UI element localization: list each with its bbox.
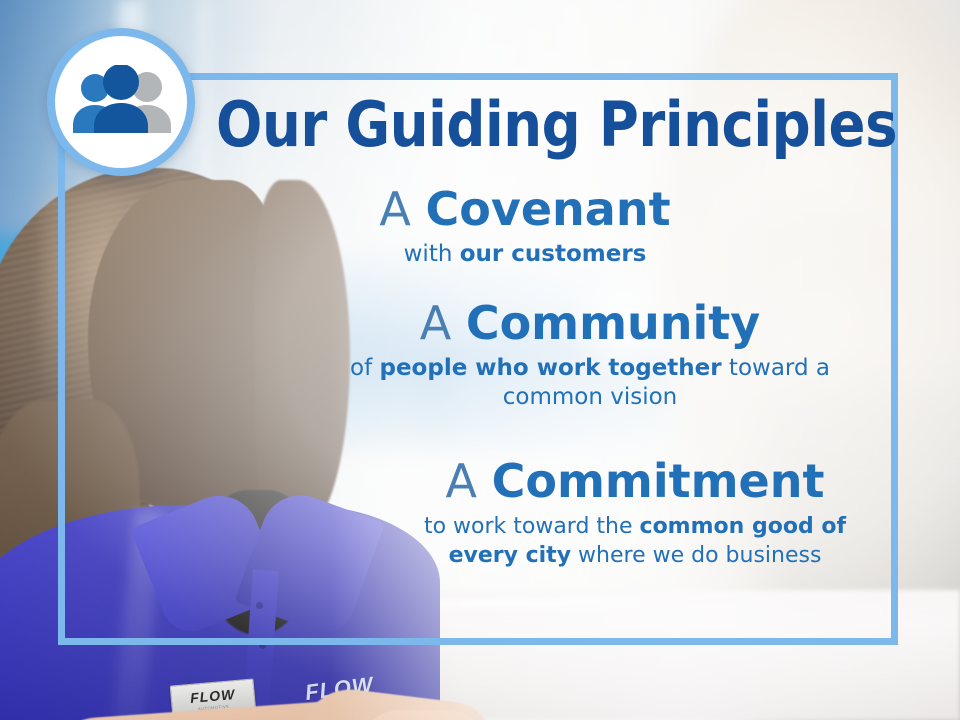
principle-commitment: A Commitment to work toward the common g… (400, 458, 870, 571)
subtext-part-bold: people who work together (379, 355, 721, 381)
subtext-part: where we do business (571, 543, 821, 568)
principle-commitment-keyword: Commitment (492, 454, 825, 508)
principle-covenant-keyword: Covenant (426, 182, 671, 236)
principle-community-heading: A Community (330, 300, 850, 348)
poster-canvas: FLOW AUTOMOTIVE FLOW (0, 0, 960, 720)
principle-community-subtext: of people who work together toward a com… (330, 354, 850, 412)
people-group-logo-badge (47, 28, 195, 176)
subtext-part: of (350, 355, 379, 381)
principle-commitment-subtext: to work toward the common good of every … (400, 512, 870, 571)
principle-covenant: A Covenant with our customers (300, 186, 750, 269)
people-group-icon (67, 65, 175, 139)
principle-community-keyword: Community (466, 296, 760, 350)
shirt-button (256, 602, 263, 609)
subtext-part: with (404, 241, 460, 267)
principle-covenant-heading: A Covenant (300, 186, 750, 234)
principle-community: A Community of people who work together … (330, 300, 850, 412)
subtext-part: to work toward the (424, 514, 640, 539)
principle-community-article: A (420, 296, 466, 350)
page-title: Our Guiding Principles (216, 94, 797, 156)
shirt-button (259, 642, 266, 649)
principle-covenant-article: A (379, 182, 425, 236)
name-badge-logo-text: FLOW (190, 687, 236, 705)
subtext-part-bold: our customers (460, 241, 647, 267)
principle-covenant-subtext: with our customers (300, 240, 750, 269)
principle-commitment-heading: A Commitment (400, 458, 870, 506)
principle-commitment-article: A (446, 454, 492, 508)
